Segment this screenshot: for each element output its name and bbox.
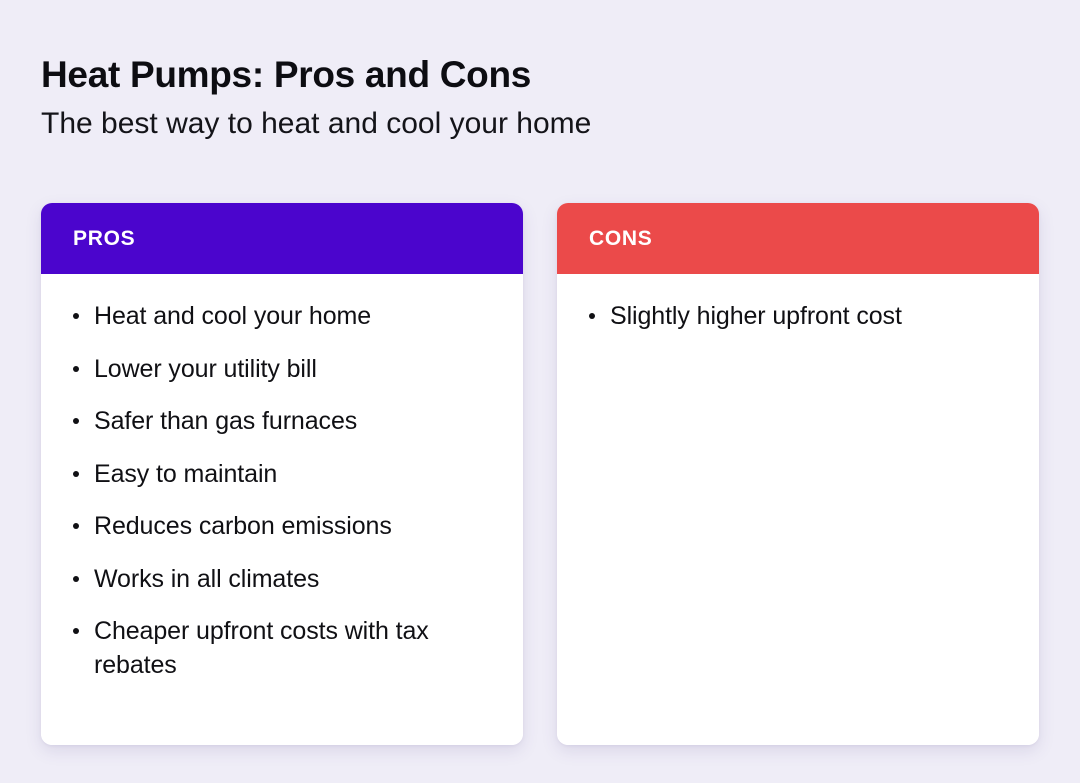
list-item-label: Lower your utility bill [94,355,317,383]
list-item: Cheaper upfront costs with tax rebates [67,615,497,682]
list-item: Lower your utility bill [67,353,497,387]
list-item-label: Cheaper upfront costs with tax rebates [94,617,429,679]
cons-card-header-label: CONS [589,228,652,249]
bullet-icon [73,628,79,634]
list-item: Works in all climates [67,563,497,597]
list-item: Easy to maintain [67,458,497,492]
cons-card-header: CONS [557,203,1039,274]
list-item: Slightly higher upfront cost [583,300,1013,334]
bullet-icon [73,523,79,529]
cons-card-body: Slightly higher upfront cost [557,274,1039,745]
pros-list: Heat and cool your homeLower your utilit… [67,300,497,682]
pros-card-body: Heat and cool your homeLower your utilit… [41,274,523,745]
page-subtitle: The best way to heat and cool your home [41,106,1041,142]
bullet-icon [73,471,79,477]
list-item: Safer than gas furnaces [67,405,497,439]
list-item-label: Works in all climates [94,565,319,593]
pros-card-header: PROS [41,203,523,274]
list-item-label: Safer than gas furnaces [94,407,357,435]
pros-card: PROS Heat and cool your homeLower your u… [41,203,523,745]
list-item-label: Heat and cool your home [94,302,371,330]
list-item-label: Easy to maintain [94,460,277,488]
list-item-label: Reduces carbon emissions [94,512,392,540]
bullet-icon [73,366,79,372]
bullet-icon [73,418,79,424]
bullet-icon [73,313,79,319]
cons-list: Slightly higher upfront cost [583,300,1013,334]
list-item: Heat and cool your home [67,300,497,334]
page-header: Heat Pumps: Pros and Cons The best way t… [41,55,1041,142]
bullet-icon [589,313,595,319]
bullet-icon [73,576,79,582]
list-item: Reduces carbon emissions [67,510,497,544]
pros-card-header-label: PROS [73,228,135,249]
comparison-cards-row: PROS Heat and cool your homeLower your u… [41,203,1040,745]
page-title: Heat Pumps: Pros and Cons [41,55,1041,95]
list-item-label: Slightly higher upfront cost [610,302,902,330]
cons-card: CONS Slightly higher upfront cost [557,203,1039,745]
